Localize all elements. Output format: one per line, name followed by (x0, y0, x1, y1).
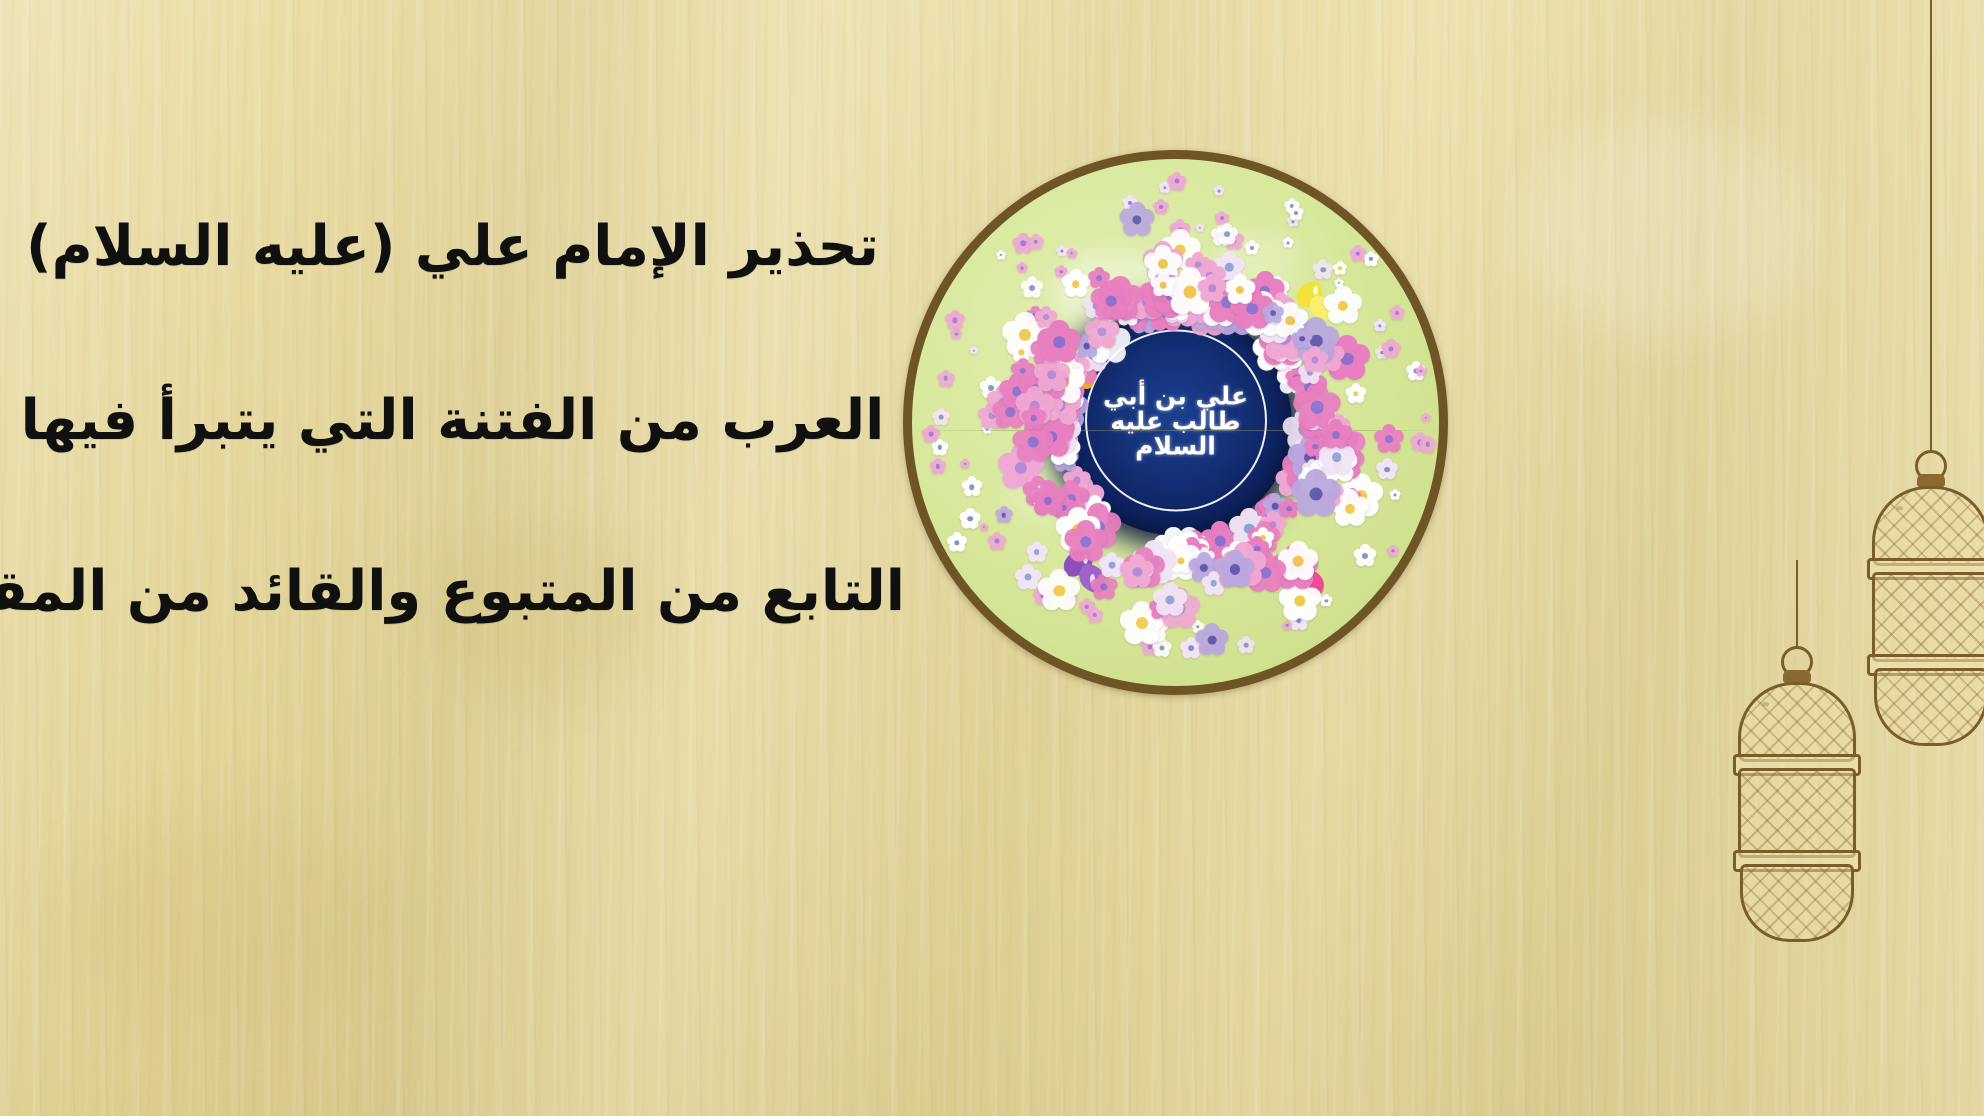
flower (1363, 251, 1379, 267)
flower (1252, 527, 1275, 550)
flower (1375, 345, 1390, 360)
flower (931, 439, 948, 456)
flower (1012, 233, 1033, 254)
flower (1123, 547, 1166, 590)
flower (1170, 531, 1210, 571)
flower (961, 476, 982, 497)
paper-blotch (1520, 120, 1820, 340)
flower (1419, 436, 1436, 453)
flower (947, 532, 968, 553)
lantern-cord (1796, 560, 1798, 648)
flower (1421, 413, 1430, 422)
butterfly-purple (1063, 551, 1119, 595)
flower (1282, 621, 1292, 631)
flower (1244, 551, 1287, 594)
lantern-body (1872, 572, 1984, 662)
flower (1170, 219, 1191, 240)
flower (1037, 388, 1061, 412)
medallion-ring: علي بن أبي طالب عليه السلام (903, 150, 1448, 695)
flower (945, 310, 965, 330)
flower (999, 373, 1035, 409)
flower (1331, 489, 1370, 528)
flower (1215, 550, 1254, 589)
flower (1021, 405, 1047, 431)
flower (1288, 610, 1309, 631)
flower (1376, 458, 1398, 480)
flower (1020, 276, 1043, 299)
slide-canvas: تحذير الإمام علي (عليه السلام) العرب من … (0, 0, 1984, 1116)
flower (1152, 638, 1172, 658)
disc-glow (1212, 229, 1302, 293)
flower (980, 523, 988, 531)
flower (1056, 245, 1068, 257)
flower (1337, 430, 1364, 457)
flower (1010, 358, 1035, 383)
flower (1159, 229, 1201, 271)
lantern-upper (1866, 0, 1984, 640)
flower (1301, 396, 1337, 432)
flower (1201, 571, 1226, 596)
flower (1033, 586, 1053, 606)
flower (1120, 554, 1155, 589)
floral-medallion: علي بن أبي طالب عليه السلام (903, 150, 1448, 695)
flower (1286, 215, 1298, 227)
medallion-core: علي بن أبي طالب عليه السلام (1060, 310, 1292, 535)
flower (1314, 478, 1344, 508)
flower (1292, 328, 1313, 349)
flower (959, 508, 981, 530)
flower (1149, 596, 1173, 620)
flower (1214, 211, 1229, 226)
flower (1185, 252, 1211, 278)
flower (1078, 598, 1094, 614)
butterfly-yellow (1296, 283, 1346, 325)
flower (1015, 564, 1042, 591)
flower (1191, 620, 1205, 634)
flower (982, 424, 992, 434)
flower (1180, 637, 1203, 660)
flower (1155, 536, 1201, 582)
flower (1247, 521, 1281, 555)
flower (1313, 259, 1334, 280)
flower (1240, 291, 1287, 338)
flower (1263, 493, 1288, 518)
flower (1406, 361, 1426, 381)
flower (996, 250, 1006, 260)
flower (1285, 367, 1307, 389)
flower (1302, 346, 1329, 373)
flower (1015, 386, 1055, 426)
flower (1354, 544, 1378, 568)
quote-line-1: تحذير الإمام علي (عليه السلام) (0, 216, 905, 278)
flower (1348, 308, 1358, 318)
flower (1119, 601, 1165, 647)
flower (1158, 587, 1201, 630)
lantern-lower (1732, 560, 1862, 1116)
flower (1259, 511, 1287, 539)
flower (1299, 415, 1324, 440)
flower (1299, 404, 1335, 440)
flower (1304, 436, 1326, 458)
flower (1230, 287, 1274, 331)
flower (1311, 339, 1345, 373)
flower (1262, 302, 1284, 324)
flower (978, 402, 1006, 430)
flower (1298, 361, 1322, 385)
flower (1322, 424, 1358, 460)
quote-line-2: العرب من الفتنة التي يتبرأ فيها (0, 390, 905, 452)
flower (1176, 530, 1214, 568)
flower (1327, 443, 1365, 481)
flower (988, 532, 1007, 551)
flower (970, 346, 978, 354)
flower (1284, 198, 1300, 214)
flower (1140, 637, 1159, 656)
flower (1171, 286, 1195, 310)
flower (1301, 460, 1335, 494)
flower (1318, 444, 1358, 484)
flower (951, 328, 963, 340)
flower (1298, 469, 1320, 491)
flower (1343, 488, 1362, 507)
flower (1387, 545, 1399, 557)
flower (1381, 339, 1401, 359)
flower (1237, 636, 1255, 654)
flower (1374, 424, 1404, 454)
flower (1026, 306, 1045, 325)
flower (1086, 607, 1103, 624)
flower (1324, 335, 1371, 382)
flower (922, 425, 940, 443)
flower (1288, 205, 1304, 221)
flower (1188, 552, 1220, 584)
flower (1389, 489, 1400, 500)
flower (1012, 422, 1054, 464)
flower (1221, 541, 1251, 571)
flower (1167, 172, 1186, 191)
flower (1221, 542, 1267, 588)
flower (1139, 550, 1162, 573)
flower (1281, 445, 1328, 492)
flower (961, 459, 971, 469)
lantern-dome (1738, 682, 1856, 762)
flower (1411, 432, 1431, 452)
flower (1293, 383, 1341, 431)
flower (1302, 459, 1322, 479)
flower (930, 458, 946, 474)
lantern-body (1738, 768, 1856, 858)
flower (1122, 557, 1154, 589)
flower (1195, 223, 1204, 232)
lantern-dome (1872, 486, 1984, 566)
flower (1175, 537, 1209, 571)
flower (1195, 547, 1215, 567)
flower (1131, 540, 1177, 586)
flower (1152, 582, 1187, 617)
flower (1119, 202, 1155, 238)
flower (1349, 245, 1366, 262)
flower (1287, 435, 1333, 481)
butterfly-magenta (1284, 557, 1336, 599)
flower (1122, 195, 1137, 210)
quote-text-block: تحذير الإمام علي (عليه السلام) العرب من … (0, 168, 905, 868)
flower (1195, 623, 1229, 657)
flower (1345, 383, 1366, 404)
flower (1245, 536, 1270, 561)
flower (932, 408, 950, 426)
lantern-cord (1930, 0, 1932, 452)
flower (1267, 292, 1295, 320)
flower (1256, 309, 1292, 345)
flower (937, 370, 955, 388)
flower (1373, 319, 1386, 332)
flower (1026, 541, 1048, 563)
flower (1002, 312, 1049, 359)
flower (1295, 435, 1317, 457)
flower (1282, 464, 1304, 486)
flower (1333, 261, 1348, 276)
flower (1136, 611, 1169, 644)
flower (1389, 305, 1405, 321)
flower (1268, 325, 1307, 364)
flower (1338, 473, 1384, 519)
flower (979, 376, 1002, 399)
flower (1018, 370, 1054, 406)
flower (1258, 493, 1287, 522)
calligraphy-circle (1085, 330, 1267, 512)
flower (1011, 342, 1032, 363)
flower (1318, 422, 1366, 470)
flower (1016, 262, 1027, 273)
flower (1291, 469, 1341, 519)
flower (1415, 365, 1427, 377)
flower (1216, 550, 1255, 589)
flower (1034, 306, 1057, 329)
flower (1328, 414, 1350, 436)
flower (1290, 368, 1327, 405)
lantern-base (1740, 864, 1854, 942)
flower (1318, 439, 1355, 476)
flower (1168, 547, 1195, 574)
flower (1158, 181, 1171, 194)
lantern-base (1874, 668, 1984, 746)
flower (1153, 199, 1169, 215)
flower (1279, 498, 1300, 519)
flower (1213, 185, 1224, 196)
butterfly-orange (1054, 347, 1108, 391)
flower (986, 385, 1019, 418)
flower (1320, 419, 1351, 450)
quote-line-3: التابع من المتبوع والقائد من المقود (0, 561, 905, 623)
flower (992, 394, 1028, 430)
flower (1028, 234, 1045, 251)
flower (1167, 543, 1188, 564)
